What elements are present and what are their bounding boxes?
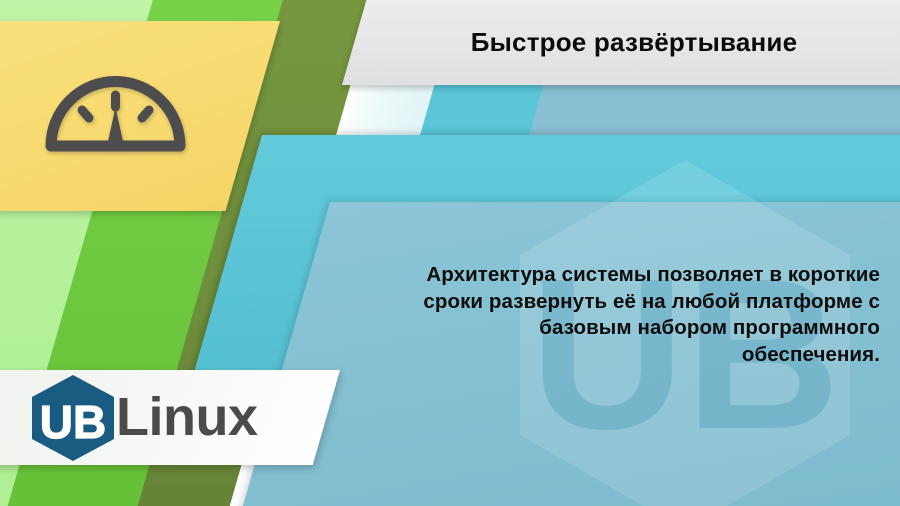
logo-wordmark: Linux — [116, 390, 258, 444]
gauge-icon — [38, 62, 193, 157]
slide-body-text: Архитектура системы позволяет в короткие… — [400, 262, 880, 369]
svg-text:UB: UB — [40, 396, 106, 448]
page-title: Быстрое развёртывание — [350, 0, 900, 85]
ub-hexagon-icon: UB — [30, 374, 116, 462]
slide-canvas: UB Архитектура системы позволяет в корот… — [0, 0, 900, 506]
brand-logo: UB Linux — [30, 374, 258, 462]
